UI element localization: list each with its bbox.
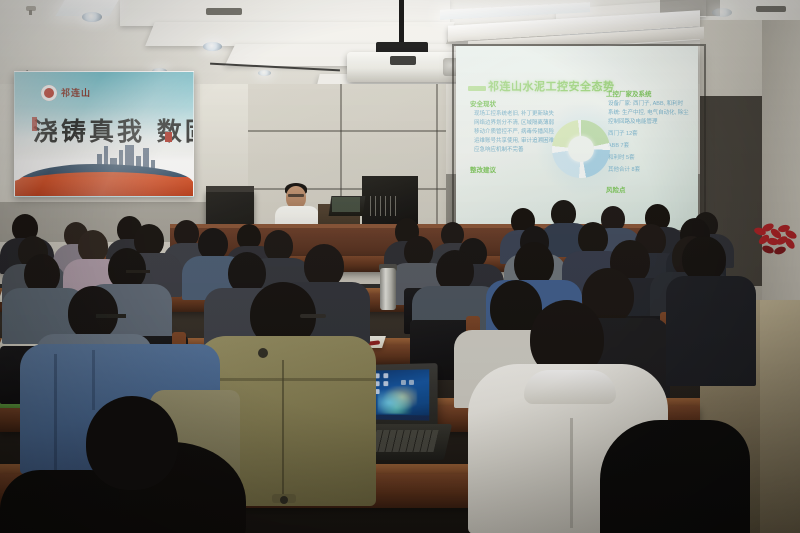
projection-screen-frame: [452, 44, 706, 238]
projector-mount-pole: [399, 0, 404, 44]
loudspeaker-top: [206, 186, 254, 192]
poinsettia-plants: [752, 222, 800, 262]
lectern-laptop-screen: [332, 197, 360, 212]
air-vent: [206, 8, 242, 15]
ceiling-downlight: [712, 8, 732, 17]
right-wall-corner: [762, 20, 800, 320]
ceiling-downlight: [203, 42, 222, 51]
ceiling-downlight: [82, 12, 102, 22]
banner-glare: [15, 72, 193, 196]
presenter-glasses-icon: [288, 194, 304, 197]
thermos-flask: [380, 268, 396, 310]
side-aisle-far: [760, 300, 800, 533]
projector-top-panel: [390, 56, 416, 65]
ceiling-downlight: [258, 70, 271, 76]
conference-room-photo: 祁连山 浇铸真我 数固永恒 祁连山水泥工控安全态势 安全现状 现场工控系统老旧,…: [0, 0, 800, 533]
sprinkler-head: [26, 6, 36, 11]
wall-banner-poster: 祁连山 浇铸真我 数固永恒: [14, 71, 194, 197]
desktop-wallpaper: [378, 386, 417, 414]
loudspeaker-grille: [370, 196, 400, 216]
air-vent: [756, 6, 786, 12]
laptop-screen[interactable]: [372, 369, 429, 420]
